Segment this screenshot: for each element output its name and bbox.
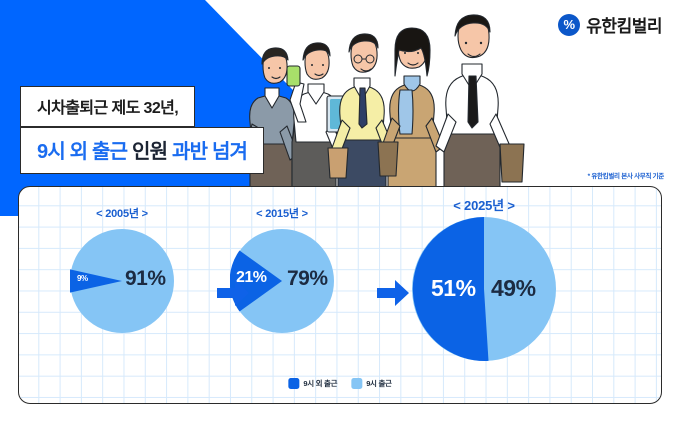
pie-value-2005-light: 91% [125, 267, 166, 291]
right-arrow-icon-1 [217, 280, 249, 311]
brand-logo: % 유한킴벌리 [558, 12, 662, 37]
right-arrow-icon-2 [377, 280, 409, 311]
legend-label-0: 9시 외 출근 [303, 378, 337, 389]
logo-mark-icon: % [558, 14, 580, 36]
pie-value-2015-light: 79% [287, 267, 328, 291]
year-label-2025: < 2025년 > [453, 195, 515, 214]
headline-line-2: 9시 외 출근 인원 과반 넘겨 [20, 127, 264, 174]
legend-item-0: 9시 외 출근 [288, 378, 337, 389]
pie-group-2005: < 2005년 > 9% 91% [67, 205, 177, 345]
legend-swatch-light [351, 378, 362, 389]
headline-line-1: 시차출퇴근 제도 32년, [20, 86, 195, 127]
headline-part-2: 인원 [132, 141, 167, 163]
footnote-text: * 유한킴벌리 본사 사무직 기준 [588, 170, 664, 180]
logo-text: 유한킴벌리 [586, 12, 662, 37]
pie-group-2015: < 2015년 > 21% 79% [227, 205, 337, 345]
worker-5 [436, 15, 524, 190]
infographic-root: % 유한킴벌리 시차출퇴근 제도 32년, 9시 외 출근 인원 과반 넘겨 *… [0, 0, 680, 423]
chart-panel: < 2005년 > 9% 91% < 2015년 > [18, 186, 662, 404]
legend-swatch-dark [288, 378, 299, 389]
worker-4 [378, 28, 444, 190]
legend-label-1: 9시 출근 [366, 378, 391, 389]
headline-part-1: 9시 외 출근 [37, 141, 127, 163]
pie-value-2005-dark: 9% [77, 274, 88, 283]
pie-group-2025: < 2025년 > 51% 49% [409, 195, 559, 365]
headline-part-3: 과반 넘겨 [172, 141, 247, 163]
year-label-2005: < 2005년 > [96, 205, 148, 221]
worker-3 [328, 34, 394, 190]
pie-value-2025-light: 49% [491, 275, 536, 302]
year-label-2015: < 2015년 > [256, 205, 308, 221]
legend-item-1: 9시 출근 [351, 378, 391, 389]
chart-legend: 9시 외 출근 9시 출근 [288, 378, 391, 389]
pie-value-2025-dark: 51% [431, 275, 476, 302]
